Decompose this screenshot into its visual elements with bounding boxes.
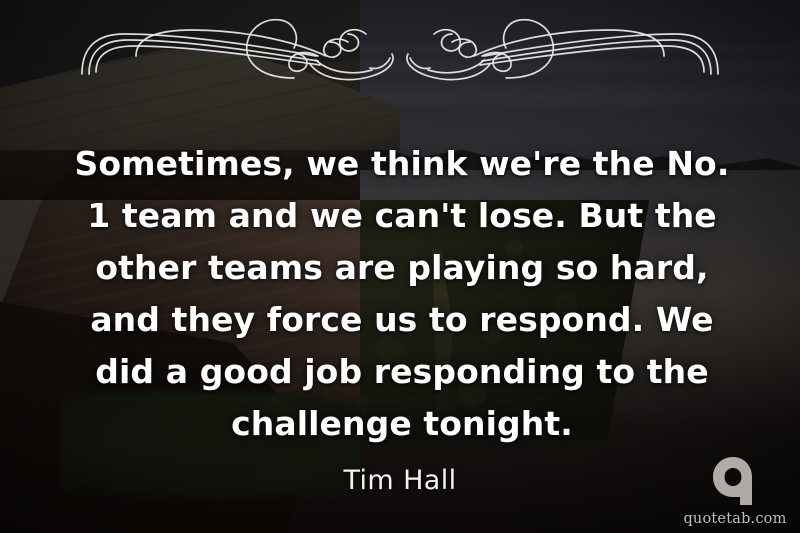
flourish-ornament-icon (80, 12, 720, 84)
quote-image-card: Sometimes, we think we're the No. 1 team… (0, 0, 800, 533)
watermark[interactable]: quotetab.com (680, 453, 790, 527)
quote-text: Sometimes, we think we're the No. 1 team… (62, 138, 742, 450)
watermark-label: quotetab.com (680, 511, 790, 527)
quotetab-logo-icon (707, 453, 763, 509)
